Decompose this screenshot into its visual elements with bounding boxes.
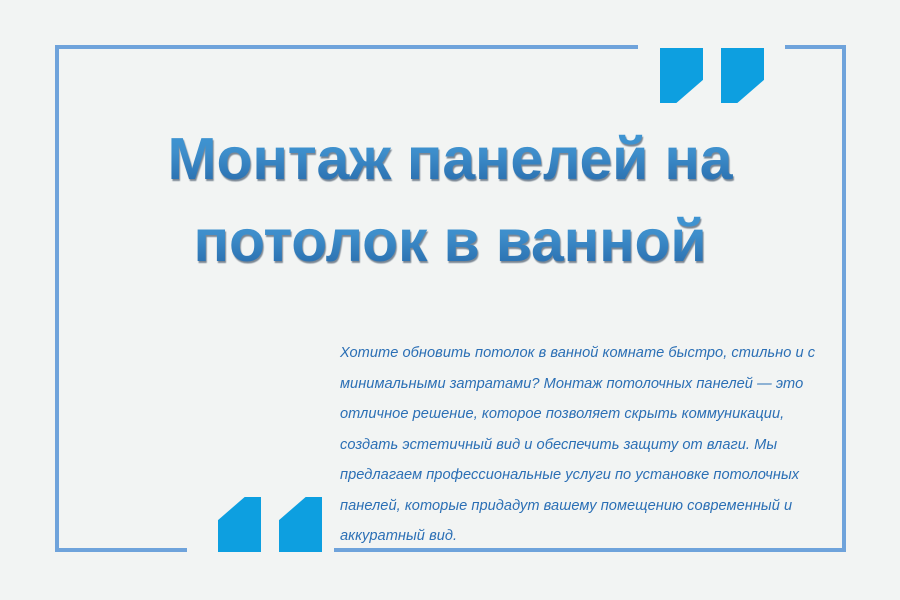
- frame-border-bottom-left: [55, 548, 187, 552]
- frame-border-right: [842, 45, 846, 552]
- quote-mark-glyph: [660, 48, 703, 103]
- opening-quote-icon: [218, 497, 322, 552]
- body-paragraph: Хотите обновить потолок в ванной комнате…: [340, 338, 840, 552]
- frame-border-top-left: [55, 45, 638, 49]
- page-title: Монтаж панелей на потолок в ванной: [60, 118, 840, 282]
- quote-mark-glyph: [721, 48, 764, 103]
- title-line-1: Монтаж панелей на: [60, 118, 840, 200]
- closing-quote-icon: [660, 48, 764, 103]
- frame-border-top-right: [785, 45, 846, 49]
- frame-border-left: [55, 45, 59, 552]
- quote-mark-glyph: [279, 497, 322, 552]
- title-line-2: потолок в ванной: [60, 200, 840, 282]
- body-text-block: Хотите обновить потолок в ванной комнате…: [340, 338, 840, 552]
- quote-mark-glyph: [218, 497, 261, 552]
- slide-canvas: Монтаж панелей на потолок в ванной Хотит…: [0, 0, 900, 600]
